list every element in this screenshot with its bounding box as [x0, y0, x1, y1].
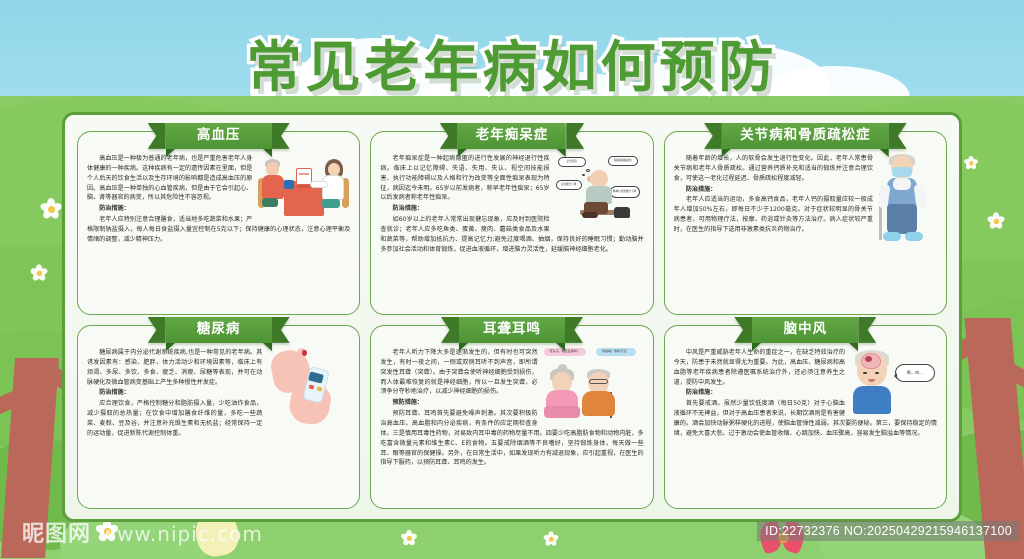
- site-watermark: 昵图网 www.nipic.com: [22, 516, 263, 548]
- patient-eye: [863, 372, 867, 374]
- bag-shape: [614, 207, 630, 218]
- thought-bubble: 记忆障碍: [558, 157, 586, 167]
- ribbon-fold-left: [166, 149, 175, 157]
- ribbon-fold-left: [722, 149, 731, 157]
- panel-title-ribbon: 关节病和骨质疏松症: [704, 123, 907, 149]
- panel-deafness-tinnitus: 耳聋耳鸣 老头子，你还爱我吗？ 你说啥？我听不见！: [370, 325, 653, 509]
- ribbon-fold-right: [557, 149, 566, 157]
- panel-title-ribbon: 耳聋耳鸣: [441, 317, 583, 343]
- thought-bubble: 性格和情绪变化: [608, 156, 638, 166]
- panel-body: 随着年龄的增长，人的软骨会发生退行性变化。因此，老年人常患骨关节病和老年人骨质疏…: [674, 154, 937, 235]
- blood-pressure-cuff-icon: [284, 180, 294, 189]
- ribbon-tail-right: [272, 317, 290, 343]
- illustration-diabetes: [268, 348, 350, 426]
- ribbon-tail-left: [704, 123, 722, 149]
- panel-title-ribbon: 老年痴呆症: [440, 123, 585, 149]
- patient-head: [266, 162, 279, 176]
- panel-title: 耳聋耳鸣: [459, 317, 565, 343]
- panel-title-ribbon: 高血压: [148, 123, 290, 149]
- page-title: 常见老年病如何预防: [246, 22, 777, 102]
- ribbon-tail-right: [889, 123, 907, 149]
- asset-id-label: ID:22732376 NO:20250429215946137100: [757, 521, 1020, 541]
- monitor-line: [299, 173, 309, 175]
- doctor-leg: [322, 199, 340, 208]
- patient-body: [853, 386, 891, 414]
- flower-icon: [543, 531, 558, 546]
- ribbon-tail-left: [148, 317, 166, 343]
- panel-diabetes: 糖尿病 糖尿病: [77, 325, 360, 509]
- ribbon-fold-left: [459, 343, 468, 351]
- poster-header: 常见老年病如何预防: [0, 22, 1024, 102]
- watermark-url: www.nipic.com: [100, 522, 263, 546]
- thought-dot: [586, 169, 590, 172]
- panel-body: 啊…呜… 中风是严重威胁老年人生命的重症之一，在缺乏特效治疗的今天，防患于未然就…: [674, 348, 937, 439]
- panel-title: 脑中风: [752, 317, 858, 343]
- ribbon-fold-left: [458, 149, 467, 157]
- elder-shirt: [893, 178, 911, 190]
- flower-icon: [30, 264, 48, 282]
- ribbon-fold-right: [849, 343, 858, 351]
- illustration-stroke: 啊…呜…: [851, 348, 937, 414]
- flower-icon: [401, 530, 418, 547]
- ribbon-fold-right: [880, 149, 889, 157]
- illustration-hypertension: [258, 154, 350, 220]
- doctor-arm: [310, 181, 328, 188]
- flower-icon: [40, 198, 62, 220]
- panel-body: 老头子，你还爱我吗？ 你说啥？我听不见！: [380, 348, 643, 468]
- glasses-icon: [589, 379, 608, 384]
- face-mask-icon: [892, 167, 912, 177]
- panel-title: 关节病和骨质疏松症: [722, 123, 889, 149]
- ribbon-fold-left: [752, 343, 761, 351]
- panel-stroke: 脑中风 啊…呜…: [664, 325, 947, 509]
- watermark-brand: 昵图网: [22, 522, 91, 547]
- panel-body: 高血压是一种极为普通的老年病，也是严重危害老年人身体健康的一种疾病。这种疾病有一…: [87, 154, 350, 245]
- thought-dot: [582, 174, 585, 176]
- husband-body: [582, 391, 615, 416]
- ribbon-tail-right: [858, 317, 876, 343]
- panel-body: 记忆障碍 性格和情绪变化 认知能力下降 精神与思维能力下降: [380, 154, 643, 255]
- speech-bubble-husband: 你说啥？我听不见！: [596, 348, 636, 356]
- panel-title: 老年痴呆症: [458, 123, 567, 149]
- ribbon-tail-left: [148, 123, 166, 149]
- wife-skirt: [544, 406, 580, 418]
- illustration-deafness: 老头子，你还爱我吗？ 你说啥？我听不见！: [544, 348, 644, 420]
- panel-body: 糖尿病属于内分泌代谢系统疾病,也是一种常见的老年病。其诱发因素有：感染、肥胖、体…: [87, 348, 350, 439]
- flower-icon: [964, 156, 978, 170]
- blood-drop-icon: [302, 350, 307, 356]
- elder-pants: [887, 204, 917, 234]
- elder-shoe: [582, 212, 598, 218]
- ribbon-fold-right: [263, 343, 272, 351]
- ribbon-tail-right: [565, 317, 583, 343]
- ribbon-fold-right: [556, 343, 565, 351]
- panel-title: 糖尿病: [166, 317, 272, 343]
- thought-bubble: 精神与思维能力下降: [610, 186, 640, 198]
- ribbon-tail-right: [566, 123, 584, 149]
- ribbon-fold-left: [166, 343, 175, 351]
- ribbon-fold-right: [263, 149, 272, 157]
- thought-bubble: 认知能力下降: [556, 180, 582, 190]
- panel-title: 高血压: [166, 123, 272, 149]
- panel-grid: 高血压: [77, 131, 947, 509]
- ribbon-tail-left: [734, 317, 752, 343]
- ribbon-tail-left: [440, 123, 458, 149]
- patient-eye: [875, 372, 879, 374]
- content-board: 高血压: [62, 112, 962, 522]
- elder-shoe: [905, 232, 923, 241]
- panel-dementia: 老年痴呆症 记忆障碍 性格和情绪变化 认知能力下降 精神与思维能力下降: [370, 131, 653, 315]
- ribbon-tail-right: [272, 123, 290, 149]
- flower-icon: [987, 212, 1005, 230]
- patient-leg: [262, 198, 278, 207]
- speech-bubble-stroke: 啊…呜…: [895, 364, 935, 382]
- panel-hypertension: 高血压: [77, 131, 360, 315]
- illustration-osteoporosis: [879, 154, 937, 248]
- panel-arthritis-osteoporosis: 关节病和骨质疏松症: [664, 131, 947, 315]
- panel-title-ribbon: 脑中风: [734, 317, 876, 343]
- elder-shoe: [883, 232, 901, 241]
- panel-title-ribbon: 糖尿病: [148, 317, 290, 343]
- ribbon-tail-left: [441, 317, 459, 343]
- illustration-dementia: 记忆障碍 性格和情绪变化 认知能力下降 精神与思维能力下降: [556, 154, 644, 224]
- blood-clot-icon: [865, 356, 872, 362]
